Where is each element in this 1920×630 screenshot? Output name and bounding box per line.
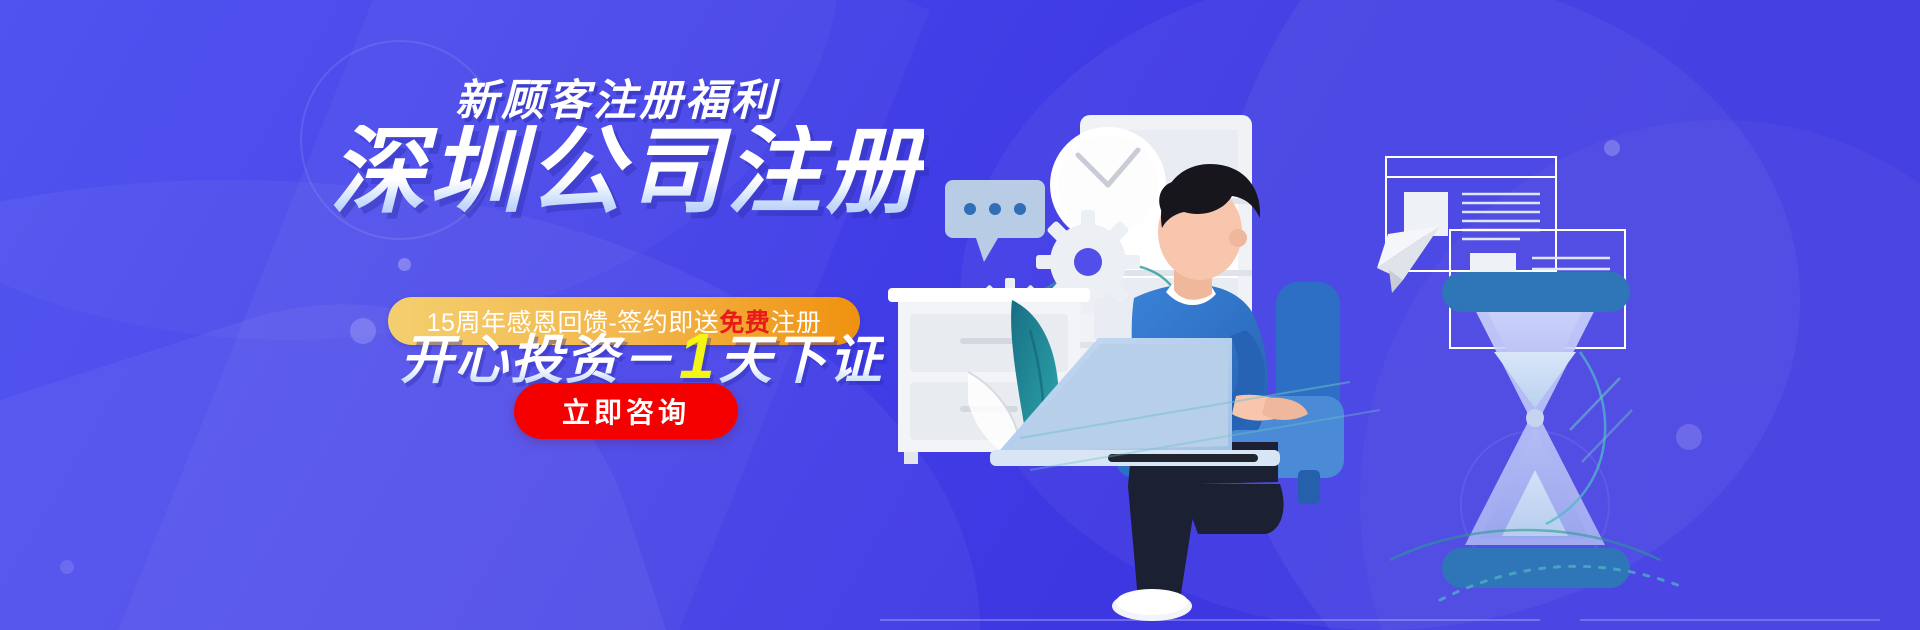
banner-illustration (880, 0, 1920, 630)
promo-banner: 新顾客注册福利 深圳公司注册 15周年感恩回馈-签约即送免费注册 开心投资－1天… (0, 0, 1920, 630)
tagline-suffix: 天下证 (719, 331, 884, 390)
consult-now-button-label: 立即咨询 (562, 391, 690, 431)
consult-now-button[interactable]: 立即咨询 (514, 383, 738, 439)
banner-headline: 深圳公司注册 (330, 125, 924, 220)
banner-copy-block: 新顾客注册福利 深圳公司注册 15周年感恩回馈-签约即送免费注册 开心投资－1天… (0, 0, 960, 630)
tagline-prefix: 开心投资－ (400, 331, 675, 390)
tagline-number: 1 (675, 320, 719, 392)
clock-icon (1050, 127, 1166, 243)
